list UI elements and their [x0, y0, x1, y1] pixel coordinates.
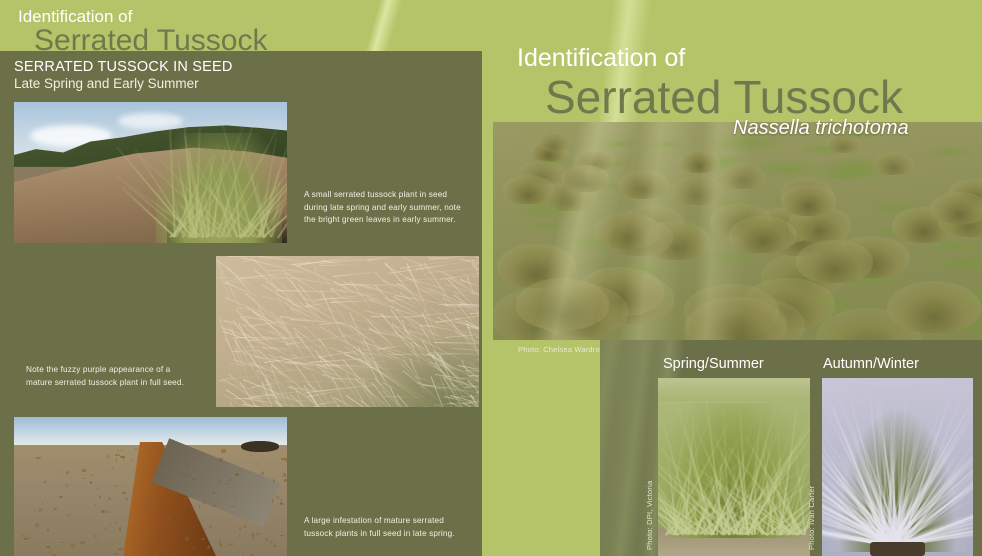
ground-speckle [219, 458, 222, 462]
ground-speckle [107, 455, 110, 457]
ground-speckle [283, 458, 287, 460]
ground-speckle [213, 492, 215, 493]
header-right-title: Serrated Tussock [545, 74, 903, 120]
ground-speckle [273, 479, 275, 481]
photoSS-background [658, 378, 810, 401]
ground-speckle [43, 481, 47, 483]
photo3-sky [14, 417, 287, 445]
season-label-spring-summer: Spring/Summer [663, 357, 764, 372]
ground-speckle [38, 508, 42, 512]
ground-speckle [213, 505, 215, 507]
ground-speckle [207, 546, 209, 550]
ground-speckle [83, 478, 86, 479]
photo1-cloud [118, 113, 184, 129]
latin-name: Nassella trichotoma [733, 118, 909, 138]
ground-speckle [90, 474, 94, 476]
ground-speckle [257, 533, 260, 535]
ground-speckle [225, 483, 230, 484]
ground-speckle [119, 527, 121, 531]
ground-speckle [80, 541, 85, 544]
ground-speckle [203, 501, 205, 504]
ground-speckle [147, 503, 149, 506]
ground-speckle [155, 490, 159, 492]
ground-speckle [115, 454, 119, 455]
ground-speckle [35, 523, 39, 527]
ground-speckle [113, 553, 118, 554]
ground-speckle [221, 449, 226, 453]
photo-credit-banner: Photo: Chelsea Wardrope [518, 345, 609, 354]
ground-speckle [209, 525, 211, 529]
ground-speckle [74, 544, 76, 548]
banner-swoosh-overlay [493, 122, 982, 340]
ground-speckle [94, 504, 96, 505]
ground-speckle [242, 552, 244, 556]
ground-speckle [133, 550, 134, 553]
header-right-eyebrow: Identification of [517, 46, 685, 71]
seed-head-stroke [472, 276, 479, 278]
left-panel-subtitle: Late Spring and Early Summer [14, 77, 199, 91]
ground-speckle [28, 537, 32, 538]
ground-speckle [149, 471, 153, 473]
photo3-distant-shrub [241, 441, 279, 452]
ground-speckle [219, 540, 221, 542]
ground-speckle [238, 535, 241, 536]
photo-mature-tussock-full-seed [216, 256, 479, 407]
ground-speckle [274, 538, 275, 540]
photo-spring-summer-tussock [658, 378, 810, 556]
photo-tussock-infestation-banner [493, 122, 982, 340]
photo-small-tussock-in-seed [14, 102, 287, 243]
season-label-autumn-winter: Autumn/Winter [823, 357, 919, 372]
ground-speckle [157, 473, 158, 476]
seed-head-stroke [228, 256, 291, 257]
ground-speckle [85, 471, 86, 472]
ground-speckle [101, 510, 105, 513]
ground-speckle [91, 518, 92, 519]
ground-speckle [185, 537, 188, 540]
ground-speckle [235, 473, 240, 475]
photo-large-infestation [14, 417, 287, 556]
header-left-eyebrow: Identification of [18, 8, 132, 25]
ground-speckle [220, 543, 222, 546]
ground-speckle [36, 457, 41, 459]
ground-speckle [183, 498, 185, 500]
ground-speckle [125, 543, 127, 544]
ground-speckle [153, 458, 156, 460]
ground-speckle [116, 458, 117, 462]
ground-speckle [256, 533, 257, 536]
ground-speckle [265, 538, 268, 542]
ground-speckle [90, 481, 92, 483]
ground-speckle [108, 497, 111, 500]
ground-speckle [251, 533, 255, 536]
photo-credit-spring-summer: Photo: DPI, Victoria [645, 481, 654, 550]
ground-speckle [52, 554, 56, 556]
ground-speckle [283, 473, 286, 476]
ground-speckle [134, 448, 138, 450]
ground-speckle [24, 538, 29, 539]
caption-photo3: A large infestation of mature serrated t… [304, 515, 464, 540]
ground-speckle [229, 544, 233, 546]
ground-speckle [60, 542, 64, 543]
ground-speckle [286, 550, 287, 551]
ground-speckle [21, 534, 25, 537]
ground-speckle [160, 538, 162, 542]
ground-speckle [250, 455, 253, 456]
ground-speckle [126, 497, 128, 501]
ground-speckle [106, 512, 107, 513]
ground-speckle [280, 499, 282, 501]
ground-speckle [141, 550, 143, 551]
left-panel-title: SERRATED TUSSOCK IN SEED [14, 60, 233, 75]
ground-speckle [140, 547, 143, 549]
ground-speckle [284, 479, 287, 482]
ground-speckle [201, 538, 205, 539]
ground-speckle [54, 508, 57, 510]
ground-speckle [235, 497, 237, 499]
caption-photo2: Note the fuzzy purple appearance of a ma… [26, 364, 186, 389]
ground-speckle [65, 484, 68, 486]
ground-speckle [59, 496, 64, 498]
ground-speckle [151, 484, 155, 485]
photoAW-base [870, 542, 924, 556]
ground-speckle [110, 523, 111, 527]
ground-speckle [160, 475, 163, 478]
ground-speckle [114, 485, 119, 486]
caption-photo1: A small serrated tussock plant in seed d… [304, 189, 464, 227]
photo-autumn-winter-tussock [822, 378, 973, 556]
photo-credit-autumn-winter: Photo: Ivan Carter [807, 486, 816, 550]
ground-speckle [168, 516, 171, 518]
